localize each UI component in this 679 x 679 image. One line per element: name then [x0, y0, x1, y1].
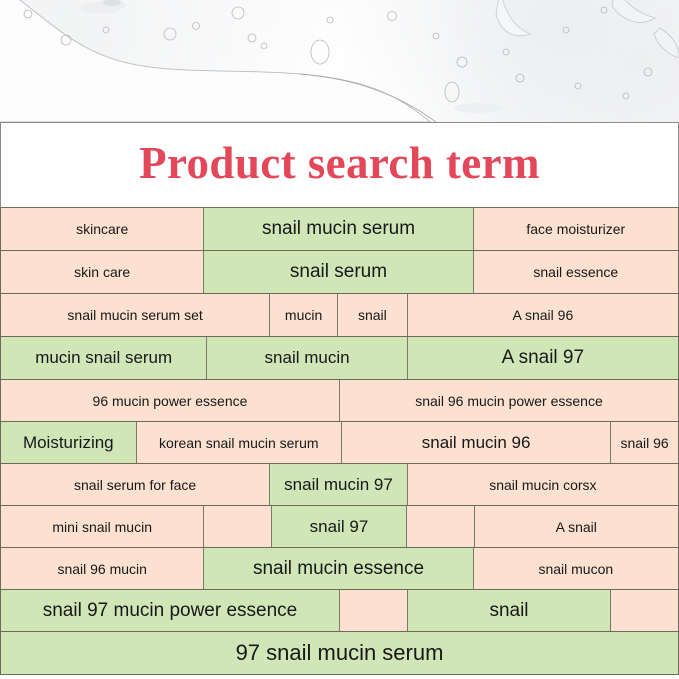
keyword-cell[interactable]: snail mucin 97 — [270, 464, 408, 505]
keyword-cell-empty — [407, 506, 475, 547]
serum-texture-artwork — [0, 0, 679, 122]
keyword-cell[interactable]: snail mucon — [474, 548, 678, 589]
keyword-cell[interactable]: mucin — [270, 294, 338, 336]
page-title: Product search term — [139, 141, 540, 190]
keyword-row: snail 97 mucin power essencesnail — [1, 590, 678, 632]
keyword-cell[interactable]: skin care — [1, 251, 204, 293]
keyword-cell[interactable]: snail mucin serum — [204, 208, 473, 250]
keyword-row: snail mucin serum setmucinsnailA snail 9… — [1, 294, 678, 337]
keyword-cell[interactable]: face moisturizer — [474, 208, 678, 250]
keyword-cell-empty — [611, 590, 678, 631]
keyword-cell[interactable]: snail 96 mucin — [1, 548, 204, 589]
keyword-cell[interactable]: Moisturizing — [1, 422, 137, 463]
keyword-grid: skincaresnail mucin serumface moisturize… — [0, 208, 679, 675]
keyword-cell[interactable]: A snail 97 — [408, 337, 678, 379]
keyword-row: mucin snail serumsnail mucinA snail 97 — [1, 337, 678, 380]
serum-texture-hero-image — [0, 0, 679, 122]
keyword-row: Moisturizingkorean snail mucin serumsnai… — [1, 422, 678, 464]
keyword-cell[interactable]: 97 snail mucin serum — [1, 632, 678, 674]
product-search-term-infographic: Product search term skincaresnail mucin … — [0, 0, 679, 679]
keyword-row: skincaresnail mucin serumface moisturize… — [1, 208, 678, 251]
keyword-cell[interactable]: snail 96 — [611, 422, 678, 463]
keyword-cell[interactable]: snail mucin 96 — [342, 422, 611, 463]
keyword-cell[interactable]: snail mucin serum set — [1, 294, 270, 336]
keyword-cell[interactable]: korean snail mucin serum — [137, 422, 342, 463]
keyword-cell-empty — [340, 590, 408, 631]
keyword-cell[interactable]: snail 97 mucin power essence — [1, 590, 340, 631]
keyword-cell[interactable]: mucin snail serum — [1, 337, 207, 379]
keyword-row: mini snail mucinsnail 97A snail — [1, 506, 678, 548]
keyword-row: snail serum for facesnail mucin 97snail … — [1, 464, 678, 506]
keyword-row: 97 snail mucin serum — [1, 632, 678, 674]
keyword-cell[interactable]: skincare — [1, 208, 204, 250]
keyword-cell[interactable]: snail — [408, 590, 611, 631]
keyword-row: snail 96 mucinsnail mucin essencesnail m… — [1, 548, 678, 590]
keyword-cell[interactable]: snail mucin essence — [204, 548, 473, 589]
keyword-row: skin caresnail serumsnail essence — [1, 251, 678, 294]
keyword-cell[interactable]: snail 97 — [272, 506, 407, 547]
keyword-cell[interactable]: snail — [338, 294, 408, 336]
keyword-cell[interactable]: A snail — [475, 506, 678, 547]
keyword-row: 96 mucin power essencesnail 96 mucin pow… — [1, 380, 678, 422]
title-band: Product search term — [0, 122, 679, 208]
keyword-cell[interactable]: 96 mucin power essence — [1, 380, 340, 421]
keyword-cell[interactable]: snail essence — [474, 251, 678, 293]
keyword-cell[interactable]: snail serum for face — [1, 464, 270, 505]
keyword-cell[interactable]: A snail 96 — [408, 294, 678, 336]
keyword-cell[interactable]: snail serum — [204, 251, 473, 293]
keyword-cell[interactable]: snail mucin corsx — [408, 464, 678, 505]
keyword-cell[interactable]: snail mucin — [207, 337, 407, 379]
keyword-cell[interactable]: snail 96 mucin power essence — [340, 380, 678, 421]
keyword-cell[interactable]: mini snail mucin — [1, 506, 204, 547]
keyword-cell-empty — [204, 506, 272, 547]
